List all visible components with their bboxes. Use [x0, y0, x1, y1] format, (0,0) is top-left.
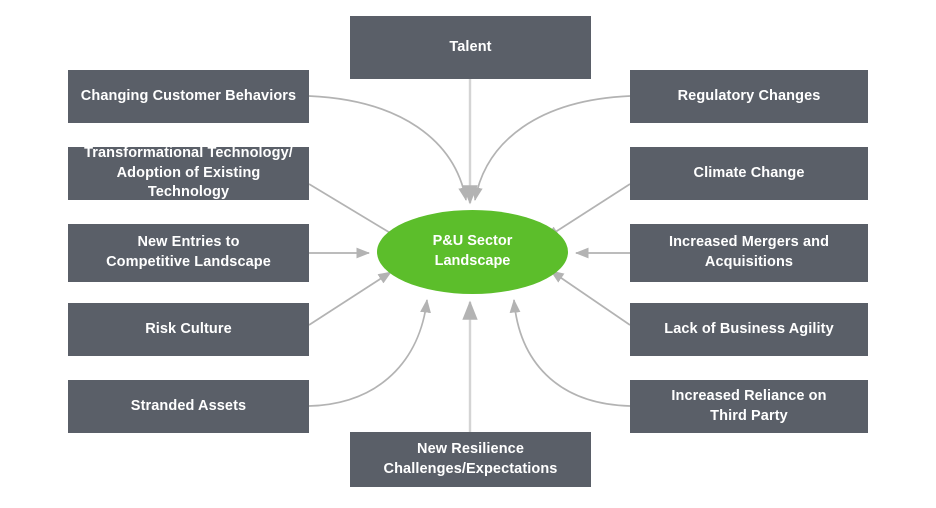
- node-stranded-assets-label: Stranded Assets: [131, 397, 246, 417]
- arrow-lack-of-business-agility-to-center: [551, 271, 630, 325]
- arrow-regulatory-changes-to-center: [475, 96, 630, 200]
- arrow-risk-culture-to-center: [309, 272, 391, 325]
- node-new-entries-competitive-landscape[interactable]: New Entries to Competitive Landscape: [68, 224, 309, 282]
- node-regulatory-changes-label: Regulatory Changes: [678, 87, 821, 107]
- center-node-label: P&U Sector Landscape: [433, 232, 513, 271]
- node-new-entries-competitive-landscape-label: New Entries to Competitive Landscape: [106, 233, 271, 272]
- node-risk-culture-label: Risk Culture: [145, 320, 232, 340]
- node-increased-reliance-third-party[interactable]: Increased Reliance on Third Party: [630, 380, 868, 433]
- node-climate-change-label: Climate Change: [694, 164, 805, 184]
- node-new-resilience-challenges[interactable]: New Resilience Challenges/Expectations: [350, 432, 591, 487]
- node-talent-label: Talent: [449, 38, 491, 58]
- arrow-stranded-assets-to-center: [309, 300, 427, 406]
- node-transformational-technology[interactable]: Transformational Technology/ Adoption of…: [68, 147, 309, 200]
- node-regulatory-changes[interactable]: Regulatory Changes: [630, 70, 868, 123]
- diagram-canvas: Talent Changing Customer Behaviors Trans…: [0, 0, 936, 508]
- arrow-increased-reliance-to-center: [514, 300, 630, 406]
- node-talent[interactable]: Talent: [350, 16, 591, 79]
- node-climate-change[interactable]: Climate Change: [630, 147, 868, 200]
- node-lack-of-business-agility-label: Lack of Business Agility: [664, 320, 833, 340]
- node-new-resilience-challenges-label: New Resilience Challenges/Expectations: [384, 440, 558, 479]
- node-stranded-assets[interactable]: Stranded Assets: [68, 380, 309, 433]
- node-transformational-technology-label: Transformational Technology/ Adoption of…: [76, 144, 301, 203]
- node-increased-reliance-third-party-label: Increased Reliance on Third Party: [671, 387, 826, 426]
- node-risk-culture[interactable]: Risk Culture: [68, 303, 309, 356]
- node-changing-customer-behaviors[interactable]: Changing Customer Behaviors: [68, 70, 309, 123]
- center-node-pu-sector-landscape[interactable]: P&U Sector Landscape: [377, 210, 568, 294]
- arrow-climate-change-to-center: [546, 184, 630, 238]
- arrow-changing-customer-behaviors-to-center: [309, 96, 466, 200]
- node-increased-mergers-acquisitions[interactable]: Increased Mergers and Acquisitions: [630, 224, 868, 282]
- node-changing-customer-behaviors-label: Changing Customer Behaviors: [81, 87, 296, 107]
- node-increased-mergers-acquisitions-label: Increased Mergers and Acquisitions: [669, 233, 829, 272]
- node-lack-of-business-agility[interactable]: Lack of Business Agility: [630, 303, 868, 356]
